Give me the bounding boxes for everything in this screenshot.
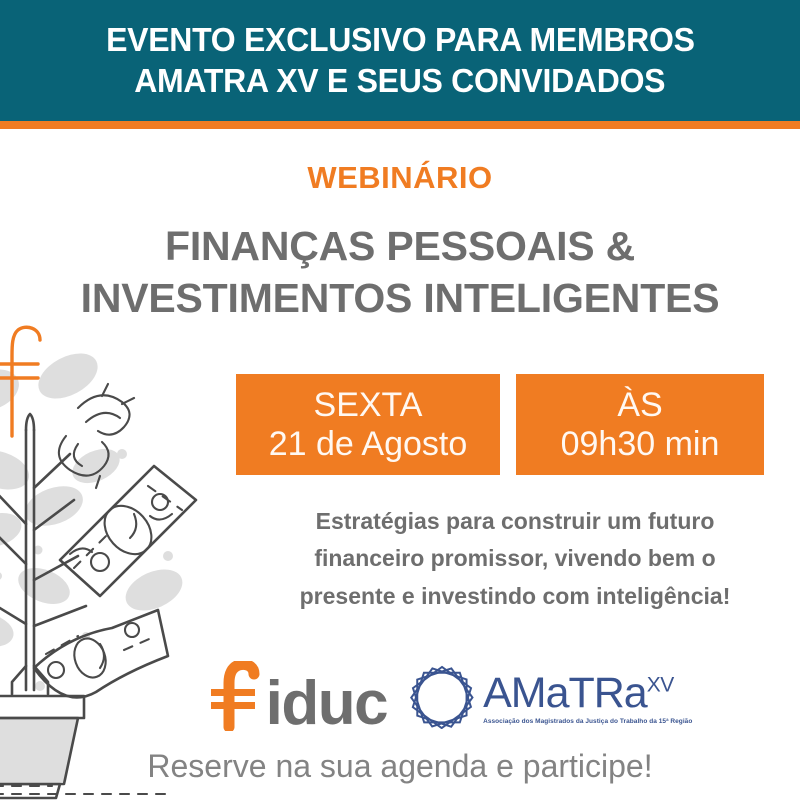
- header-banner: EVENTO EXCLUSIVO PARA MEMBROS AMATRA XV …: [0, 0, 800, 121]
- title-line-2: INVESTIMENTOS INTELIGENTES: [0, 272, 800, 324]
- header-line-2: AMATRA XV E SEUS CONVIDADOS: [134, 61, 665, 101]
- description-line-1: Estratégias para construir um futuro: [245, 503, 785, 540]
- header-orange-rule: [0, 121, 800, 129]
- logo-row: iduc AMaTRaXV Associação dos Magistrados…: [195, 658, 715, 738]
- time-prefix: ÀS: [617, 386, 662, 424]
- date-badge: SEXTA 21 de Agosto: [236, 374, 500, 475]
- amatra-subtitle: Associação dos Magistrados da Justiça do…: [483, 718, 702, 725]
- fiduc-wordmark: iduc: [266, 673, 387, 735]
- ground-line: [0, 786, 166, 794]
- amatra-superscript: XV: [647, 673, 674, 696]
- amatra-word-main: AMaTRa: [483, 669, 647, 717]
- kicker-label: WEBINÁRIO: [0, 160, 800, 196]
- page-title: FINANÇAS PESSOAIS & INVESTIMENTOS INTELI…: [0, 220, 800, 325]
- date-day: 21 de Agosto: [269, 425, 468, 463]
- description-line-3: presente e investindo com inteligência!: [245, 578, 785, 615]
- header-line-1: EVENTO EXCLUSIVO PARA MEMBROS: [106, 20, 695, 60]
- leaf-shapes: [0, 344, 189, 691]
- fiduc-f-ornament-icon: [0, 327, 40, 436]
- banknote-upper: [60, 466, 196, 596]
- date-weekday: SEXTA: [314, 386, 423, 424]
- amatra-logo: AMaTRaXV Associação dos Magistrados da J…: [409, 663, 702, 734]
- banknote-lower: [34, 610, 168, 697]
- coin-swirl-motif: [59, 384, 134, 488]
- tree-trunk-branches: [0, 414, 86, 694]
- footer-tagline: Reserve na sua agenda e participe!: [0, 748, 800, 785]
- fiduc-f-mark-icon: [208, 661, 266, 735]
- time-badge: ÀS 09h30 min: [516, 374, 764, 475]
- description-line-2: financeiro promissor, vivendo bem o: [245, 540, 785, 577]
- amatra-pentagon-icon: [409, 663, 475, 734]
- amatra-wordmark: AMaTRaXV: [483, 672, 674, 715]
- amatra-text-block: AMaTRaXV Associação dos Magistrados da J…: [483, 672, 702, 725]
- fiduc-logo: iduc: [208, 661, 387, 735]
- webinar-poster: EVENTO EXCLUSIVO PARA MEMBROS AMATRA XV …: [0, 0, 800, 800]
- time-value: 09h30 min: [561, 425, 720, 463]
- description-text: Estratégias para construir um futuro fin…: [245, 503, 785, 615]
- title-line-1: FINANÇAS PESSOAIS &: [0, 220, 800, 272]
